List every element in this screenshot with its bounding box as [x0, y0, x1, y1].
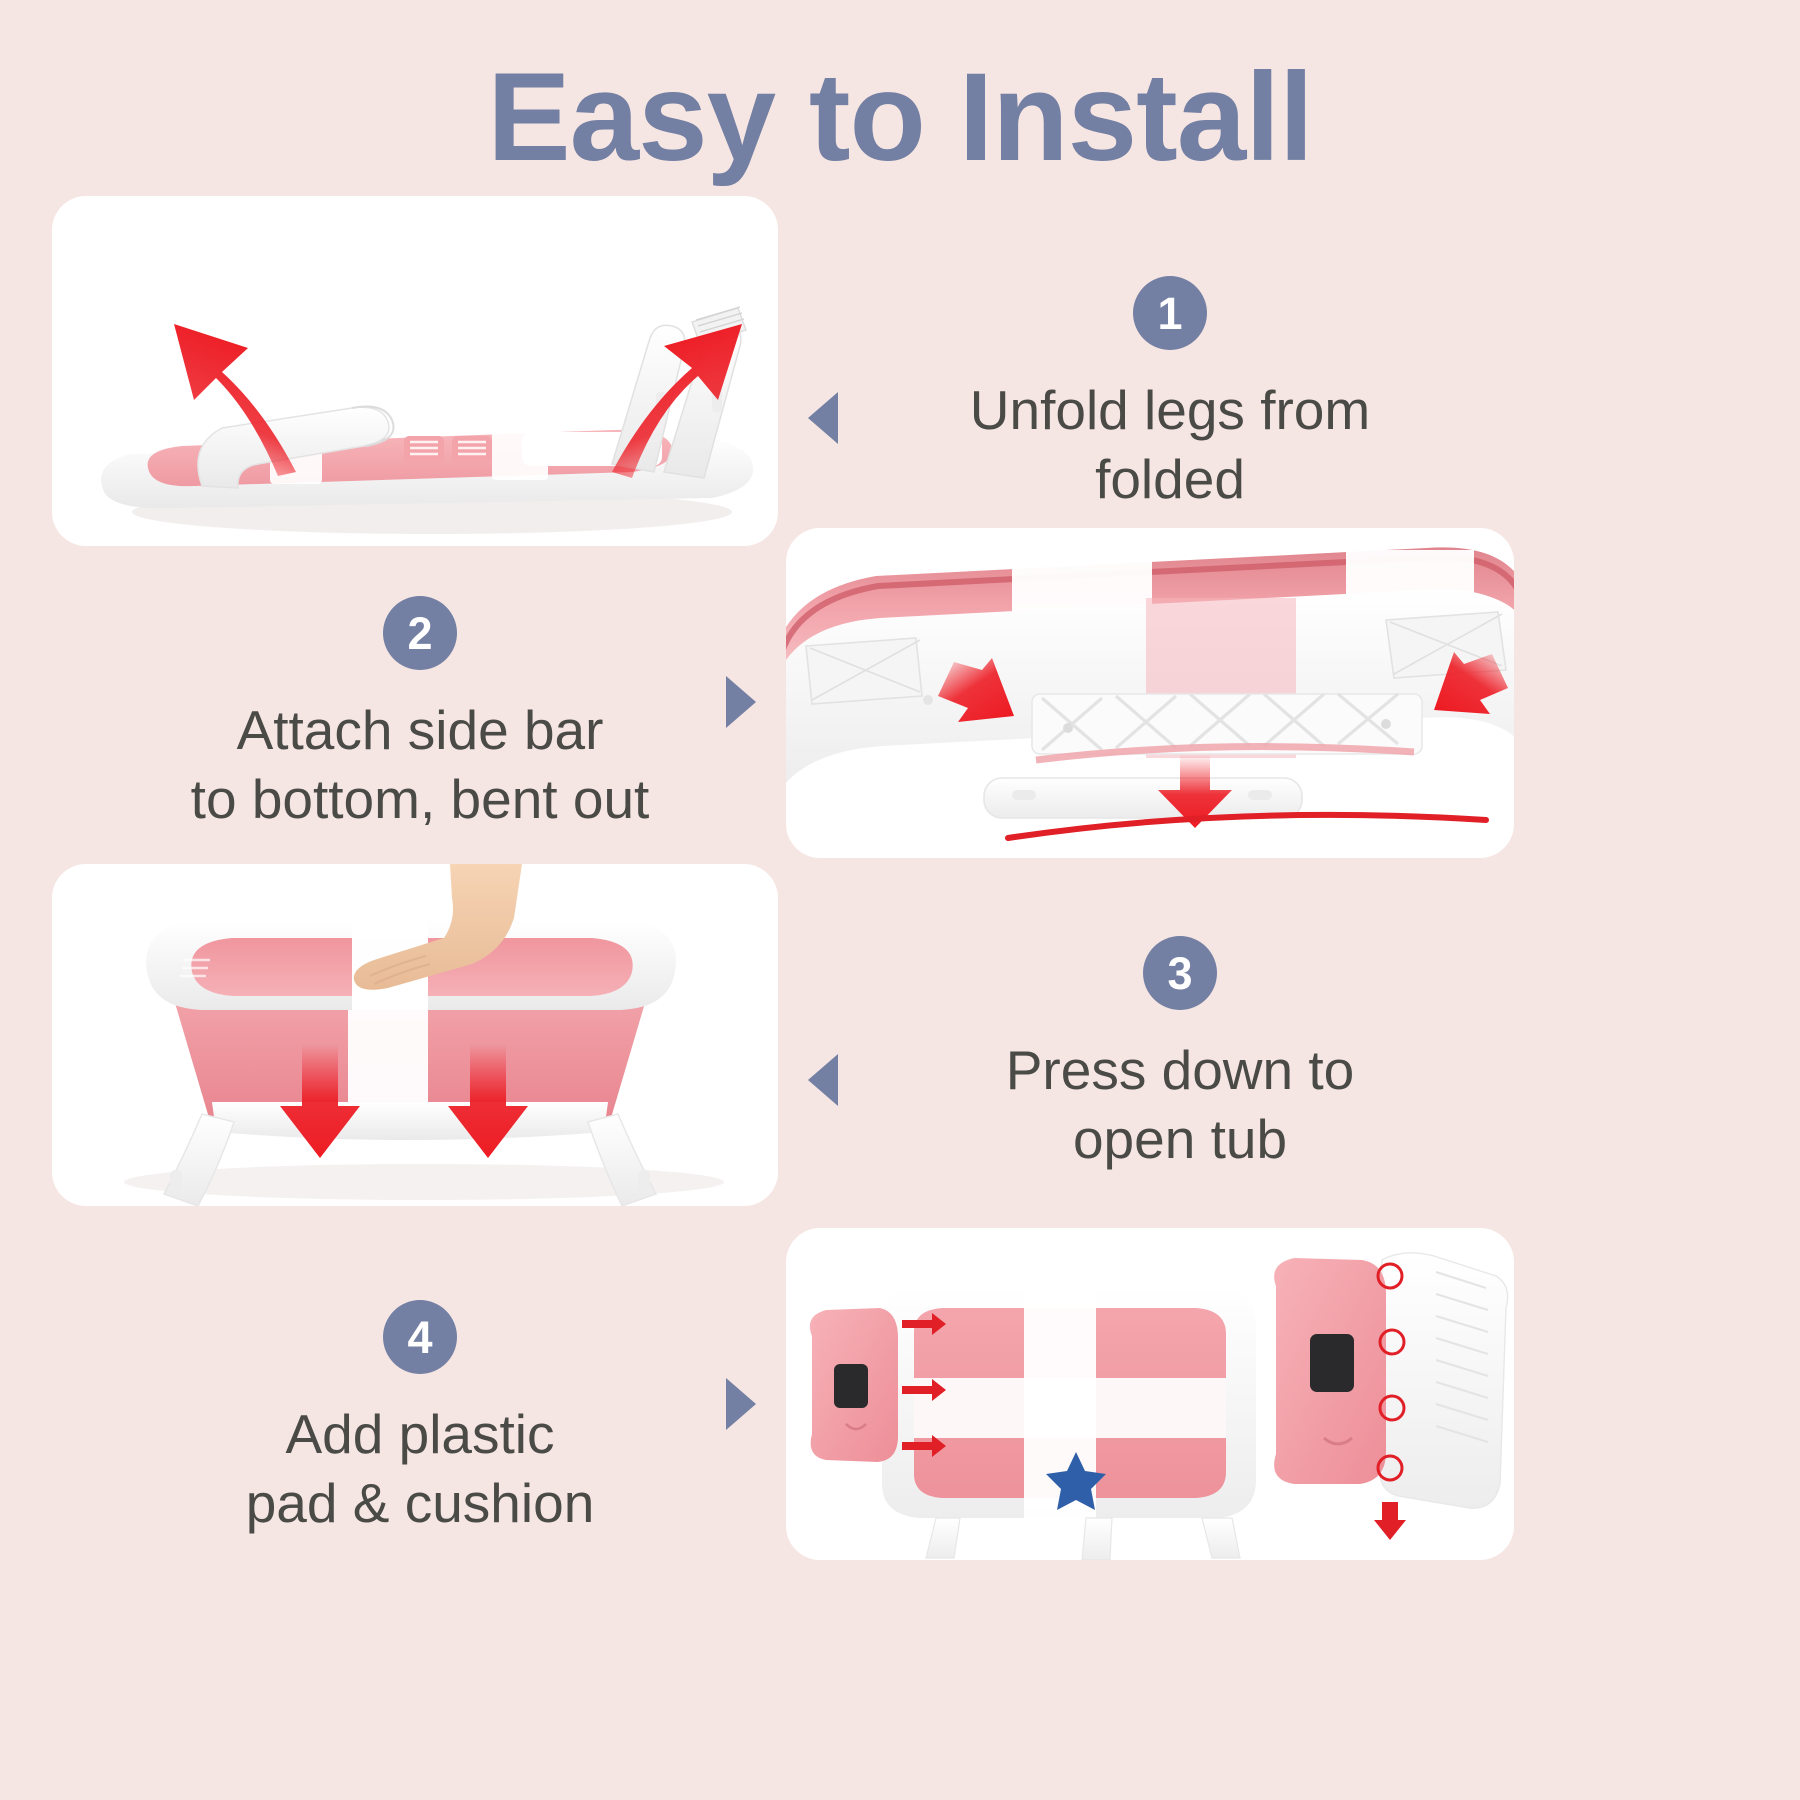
pointer-triangle-right-step-2 — [726, 676, 756, 728]
infographic-root: Easy to Install — [0, 0, 1800, 1800]
step-2-text: Attach side bar to bottom, bent out — [110, 696, 730, 835]
step-1: 1 Unfold legs from folded — [860, 276, 1480, 515]
photo-add-pad-cushion — [786, 1228, 1514, 1560]
step-4: 4 Add plastic pad & cushion — [120, 1300, 720, 1539]
photo-unfold-legs — [52, 196, 778, 546]
step-3-number: 3 — [1143, 936, 1217, 1010]
pointer-triangle-right-step-4 — [726, 1378, 756, 1430]
photo-attach-side-bar — [786, 528, 1514, 858]
step-2-number: 2 — [383, 596, 457, 670]
pointer-triangle-left-step-3 — [808, 1054, 838, 1106]
page-title: Easy to Install — [0, 52, 1800, 183]
step-1-number: 1 — [1133, 276, 1207, 350]
photo-press-down — [52, 864, 778, 1206]
step-3: 3 Press down to open tub — [880, 936, 1480, 1175]
illustration-add-pad-cushion — [786, 1228, 1514, 1560]
illustration-unfold-legs — [52, 196, 778, 546]
step-3-text: Press down to open tub — [880, 1036, 1480, 1175]
step-2: 2 Attach side bar to bottom, bent out — [110, 596, 730, 835]
step-4-text: Add plastic pad & cushion — [120, 1400, 720, 1539]
step-1-text: Unfold legs from folded — [860, 376, 1480, 515]
illustration-attach-side-bar — [786, 528, 1514, 858]
illustration-press-down — [52, 864, 778, 1206]
step-4-number: 4 — [383, 1300, 457, 1374]
pointer-triangle-left-step-1 — [808, 392, 838, 444]
